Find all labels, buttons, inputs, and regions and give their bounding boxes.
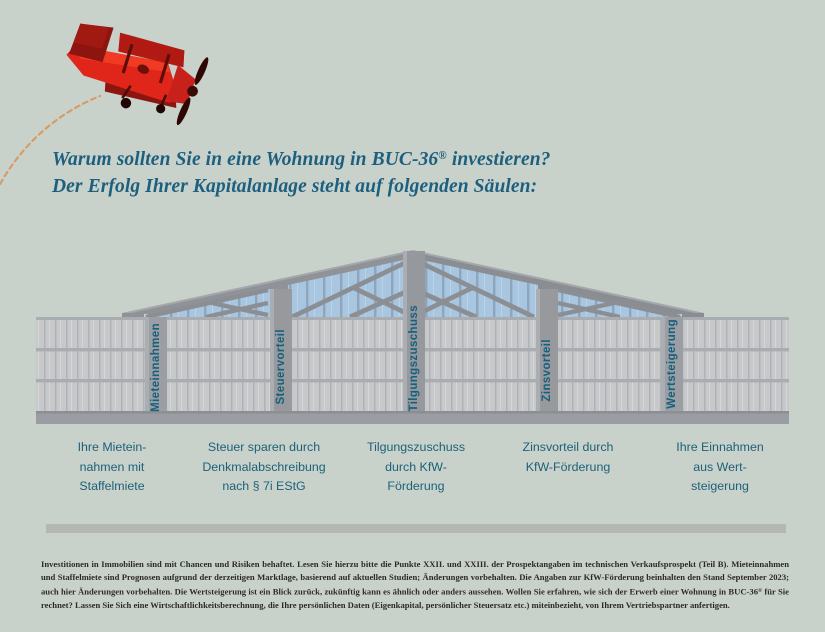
caption-zinsvorteil: Zinsvorteil durch KfW-Förderung xyxy=(492,438,644,477)
registered-mark: ® xyxy=(438,150,447,162)
section-divider xyxy=(46,524,786,533)
pillar-label-wertsteigerung: Wertsteigerung xyxy=(666,319,678,409)
headline-line-1: Warum sollten Sie in eine Wohnung in BUC… xyxy=(52,149,551,170)
disclaimer-part-1: Investitionen in Immobilien sind mit Cha… xyxy=(41,559,789,596)
pillar-label-steuervorteil: Steuervorteil xyxy=(275,329,287,405)
disclaimer-text: Investitionen in Immobilien sind mit Cha… xyxy=(41,558,789,612)
caption-wertsteigerung: Ihre Einnahmen aus Wert- steigerung xyxy=(644,438,796,497)
caption-row: Ihre Mietein- nahmen mit Staffelmiete St… xyxy=(36,438,796,497)
pillar-label-mieteinnahmen: Mieteinnahmen xyxy=(150,323,162,412)
pillar-label-zinsvorteil: Zinsvorteil xyxy=(541,339,553,402)
headline-line-1-tail: investieren? xyxy=(447,149,551,170)
caption-tilgungszuschuss: Tilgungszuschuss durch KfW- Förderung xyxy=(340,438,492,497)
page-title: Warum sollten Sie in eine Wohnung in BUC… xyxy=(52,143,692,200)
hangar-with-five-pillars: Mieteinnahmen Steuervorteil Tilgungszusc… xyxy=(0,243,825,429)
headline-line-2: Der Erfolg Ihrer Kapitalanlage steht auf… xyxy=(52,173,692,200)
headline-line-1-main: Warum sollten Sie in eine Wohnung in BUC… xyxy=(52,149,438,170)
caption-mieteinnahmen: Ihre Mietein- nahmen mit Staffelmiete xyxy=(36,438,188,497)
poster-canvas: Warum sollten Sie in eine Wohnung in BUC… xyxy=(0,0,825,632)
caption-steuervorteil: Steuer sparen durch Denkmalabschreibung … xyxy=(188,438,340,497)
pillar-label-tilgungszuschuss: Tilgungszuschuss xyxy=(408,305,420,412)
